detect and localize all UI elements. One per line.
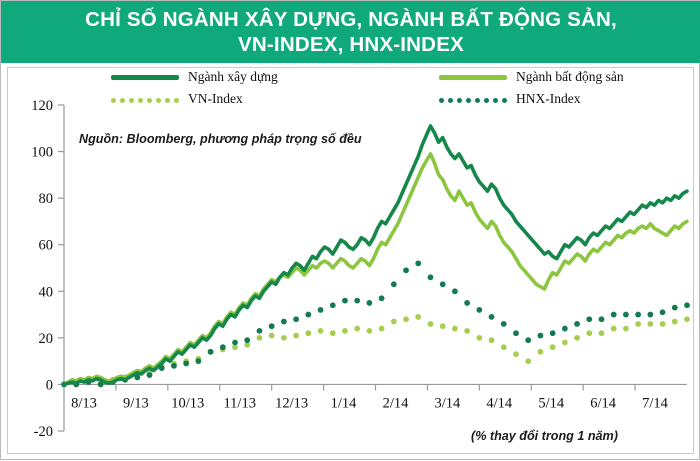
legend-swatch-dotted: [439, 93, 507, 105]
legend-item-3[interactable]: VN-Index: [111, 91, 243, 107]
x-tick-label: 11/13: [223, 395, 256, 411]
x-tick-label: 7/14: [642, 395, 669, 411]
y-tick-label: -20: [34, 424, 53, 440]
legend-label: Ngành xây dựng: [188, 69, 278, 85]
source-note: Nguồn: Bloomberg, phương pháp trọng số đ…: [79, 132, 362, 146]
x-tick-label: 12/13: [275, 395, 308, 411]
legend-swatch-solid: [439, 71, 507, 83]
legend-swatch-solid: [111, 71, 179, 83]
legend-item-4[interactable]: HNX-Index: [439, 91, 580, 107]
y-tick-label: 40: [39, 284, 54, 300]
y-tick-label: 80: [39, 191, 54, 207]
series-dots-vn-index: [61, 314, 690, 387]
x-tick-label: 3/14: [434, 395, 461, 411]
x-tick-label: 8/13: [71, 395, 97, 411]
y-tick-label: 60: [39, 238, 54, 254]
x-tick-label: 5/14: [538, 395, 565, 411]
x-axis: 8/139/1310/1311/1312/131/142/143/144/145…: [64, 384, 687, 411]
chart-legend: Ngành xây dựngNgành bất động sảnVN-Index…: [1, 69, 700, 109]
x-tick-label: 2/14: [383, 395, 410, 411]
chart-page: CHỈ SỐ NGÀNH XÂY DỰNG, NGÀNH BẤT ĐỘNG SẢ…: [0, 0, 700, 460]
legend-item-2[interactable]: Ngành bất động sản: [439, 69, 624, 85]
series-line-ngành-bất-động-sản: [64, 154, 687, 385]
y-tick-label: 100: [31, 145, 53, 161]
legend-swatch-dotted: [111, 93, 179, 105]
chart-series: [61, 126, 690, 387]
legend-label: HNX-Index: [516, 91, 580, 107]
legend-label: Ngành bất động sản: [516, 69, 624, 85]
unit-note: (% thay đổi trong 1 năm): [471, 429, 618, 443]
x-tick-label: 10/13: [171, 395, 204, 411]
x-tick-label: 4/14: [486, 395, 513, 411]
x-tick-label: 6/14: [590, 395, 617, 411]
legend-item-1[interactable]: Ngành xây dựng: [111, 69, 278, 85]
y-axis: 120100806040200-20: [31, 98, 64, 440]
legend-label: VN-Index: [188, 91, 243, 107]
x-tick-label: 1/14: [331, 395, 358, 411]
y-tick-label: 20: [39, 331, 54, 347]
x-tick-label: 9/13: [123, 395, 149, 411]
y-tick-label: 0: [46, 377, 53, 393]
